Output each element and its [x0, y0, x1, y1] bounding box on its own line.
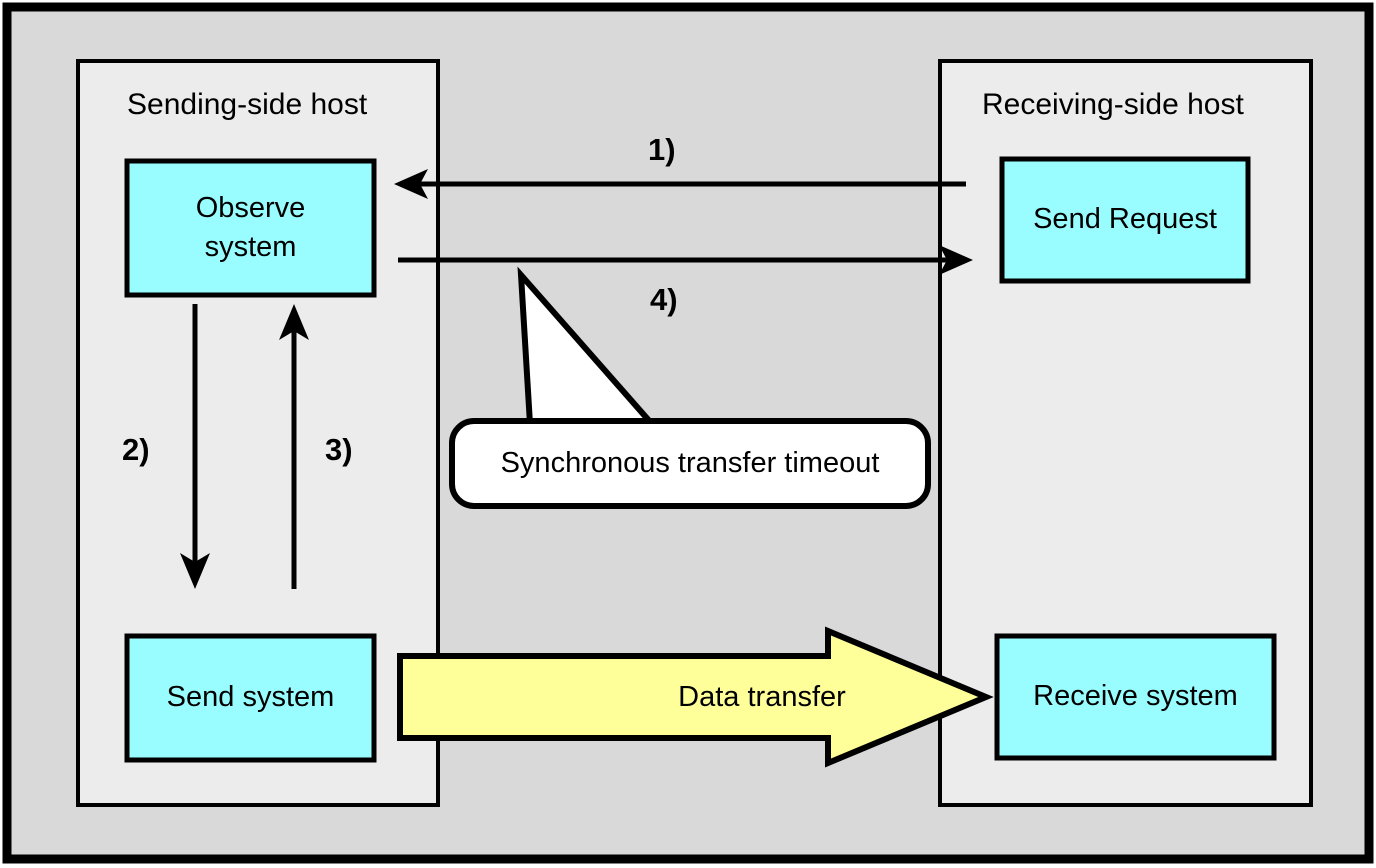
observe-system-label-group: Observe system: [127, 161, 374, 295]
step-1-label: 1): [648, 132, 676, 168]
callout-label-group: Synchronous transfer timeout: [452, 421, 928, 506]
send-request-label: Send Request: [1033, 200, 1217, 239]
diagram-canvas: Sending-side host Receiving-side host Ob…: [0, 0, 1376, 868]
receive-system-label-group: Receive system: [997, 636, 1274, 758]
data-transfer-label-group: Data transfer: [400, 656, 828, 738]
observe-system-label-line2: system: [205, 228, 297, 267]
send-request-label-group: Send Request: [1002, 159, 1248, 281]
data-transfer-label: Data transfer: [678, 681, 846, 714]
receive-system-label: Receive system: [1033, 677, 1238, 716]
step-4-label: 4): [650, 282, 678, 318]
sending-side-host-label: Sending-side host: [127, 88, 367, 122]
step-2-label: 2): [122, 432, 150, 468]
receiving-side-host-label: Receiving-side host: [982, 88, 1244, 122]
step-3-label: 3): [325, 432, 353, 468]
observe-system-label-line1: Observe: [196, 189, 306, 228]
send-system-label-group: Send system: [127, 636, 374, 760]
send-system-label: Send system: [167, 678, 335, 717]
callout-label: Synchronous transfer timeout: [501, 447, 880, 480]
